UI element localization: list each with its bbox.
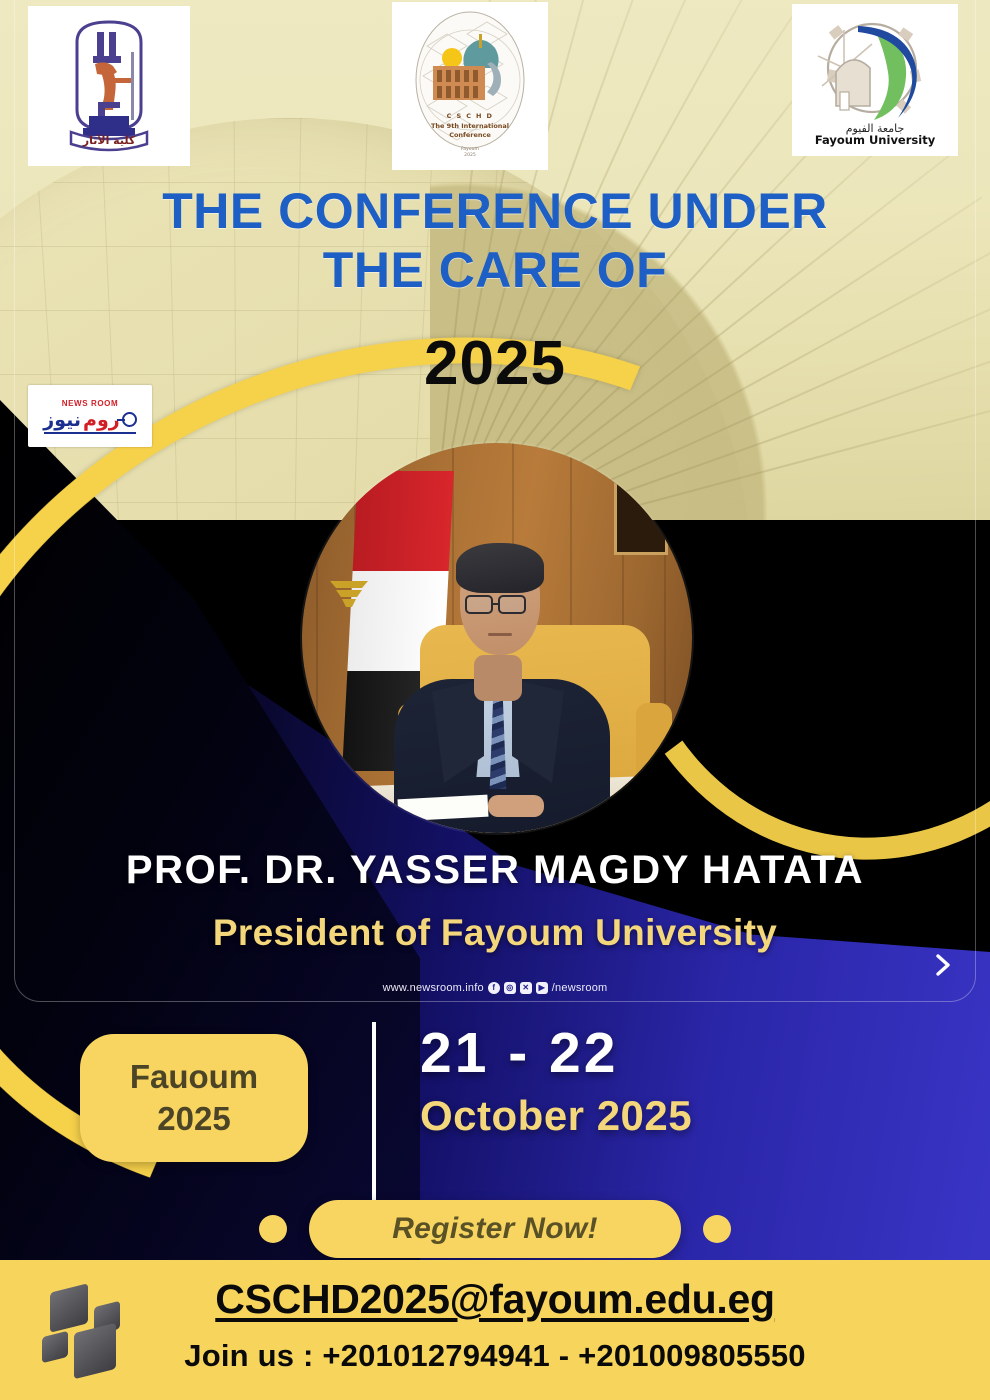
speaker-portrait (302, 443, 692, 833)
social-strip: www.newsroom.info f ◎ ✕ ▶ /newsroom (0, 982, 990, 994)
contact-bar: CSCHD2025@fayoum.edu.eg Join us : +20101… (0, 1260, 990, 1400)
social-handle: /newsroom (552, 982, 608, 994)
microphone-icon (122, 412, 137, 427)
faculty-of-archaeology-logo: كلية الآثار (28, 6, 190, 166)
poster-title: THE CONFERENCE UNDER THE CARE OF 2025 (0, 182, 990, 399)
speaker-role: President of Fayoum University (0, 912, 990, 954)
newsroom-watermark: NEWS ROOM نيوز روم (28, 385, 152, 447)
watermark-rule (44, 432, 136, 434)
eagle-emblem-icon (326, 563, 372, 615)
conference-emblem-logo: C S C H D The 9th International Conferen… (392, 2, 548, 170)
decorative-dot-left (259, 1215, 287, 1243)
eyeglasses-bridge (493, 603, 499, 605)
contact-email[interactable]: CSCHD2025@fayoum.edu.eg (0, 1276, 990, 1323)
svg-text:2025: 2025 (464, 152, 476, 158)
svg-text:C S C H D: C S C H D (447, 112, 494, 120)
speaker-name: PROF. DR. YASSER MAGDY HATATA (0, 848, 990, 893)
paper-on-desk (397, 795, 488, 822)
hands (488, 795, 544, 817)
watermark-arabic-blue: نيوز (43, 409, 81, 431)
register-now-button[interactable]: Register Now! (309, 1200, 681, 1258)
event-month-year: October 2025 (420, 1092, 940, 1140)
hair (456, 543, 544, 593)
svg-text:The 9th International: The 9th International (431, 122, 509, 130)
vertical-divider (372, 1022, 376, 1200)
svg-text:Conference: Conference (449, 131, 491, 139)
eyeglasses-right-lens (498, 595, 526, 614)
facebook-icon[interactable]: f (488, 982, 500, 994)
register-row: Register Now! (0, 1196, 990, 1262)
conference-poster: كلية الآثار (0, 0, 990, 1400)
event-location-badge: Fauoum 2025 (80, 1034, 308, 1162)
title-line-2: THE CARE OF (0, 241, 990, 300)
location-line-2: 2025 (157, 1098, 230, 1140)
svg-text:Fayoum: Fayoum (461, 146, 479, 152)
wall-picture-frame (614, 481, 668, 555)
instagram-icon[interactable]: ◎ (504, 982, 516, 994)
logo-strip: كلية الآثار (0, 0, 990, 170)
location-line-1: Fauoum (130, 1056, 258, 1098)
decorative-dot-right (703, 1215, 731, 1243)
svg-text:Fayoum University: Fayoum University (815, 133, 936, 147)
contact-phones: Join us : +201012794941 - +201009805550 (0, 1338, 990, 1374)
watermark-top-label: NEWS ROOM (62, 399, 119, 408)
chevron-right-icon[interactable] (930, 952, 956, 978)
eyeglasses-left-lens (465, 595, 493, 614)
neck (474, 655, 522, 701)
youtube-icon[interactable]: ▶ (536, 982, 548, 994)
watermark-arabic-red: روم (83, 409, 120, 431)
title-line-1: THE CONFERENCE UNDER (0, 182, 990, 241)
fayoum-university-logo: جامعة الفيوم Fayoum University (792, 4, 958, 156)
x-twitter-icon[interactable]: ✕ (520, 982, 532, 994)
svg-text:كلية الآثار: كلية الآثار (82, 134, 136, 147)
mouth (488, 633, 512, 636)
website-url: www.newsroom.info (383, 982, 484, 994)
event-days: 21 - 22 (420, 1020, 940, 1086)
